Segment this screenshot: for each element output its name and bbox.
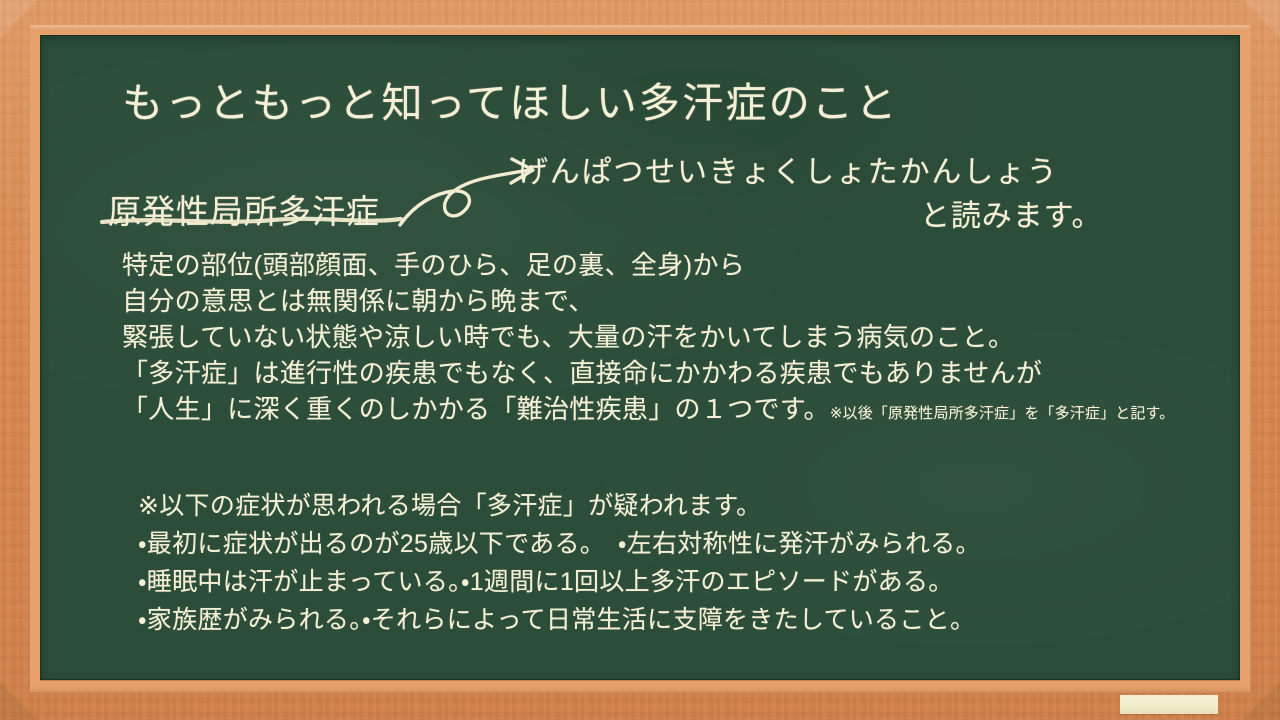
- list-item: ・家族歴がみられる。・それらによって日常生活に支障をきたしていること。: [138, 601, 1280, 639]
- chalk-underline: [98, 213, 408, 229]
- body-line-text: 「人生」に深く重くのしかかる「難治性疾患」の１つです。: [122, 394, 830, 424]
- reading-suffix: と読みます。: [920, 191, 1102, 235]
- symptom-list-heading: ※以下の症状が思われる場合「多汗症」が疑われます。: [138, 487, 1280, 525]
- list-item: ・睡眠中は汗が止まっている。・1週間に1回以上多汗のエピソードがある。: [138, 563, 1280, 601]
- chalk-stick: [1120, 695, 1218, 714]
- footnote-text: ※以後「原発性局所多汗症」を「多汗症」と記す。: [830, 405, 1175, 422]
- slide-title: もっともっと知ってほしい多汗症のこと: [122, 79, 899, 127]
- body-line-with-note: 「人生」に深く重くのしかかる「難治性疾患」の１つです。※以後「原発性局所多汗症」…: [122, 391, 1280, 432]
- chalkboard-surface: もっともっと知ってほしい多汗症のこと 原発性局所多汗症 げんぱつせいきょくしょた…: [40, 35, 1240, 680]
- symptom-list: ※以下の症状が思われる場合「多汗症」が疑われます。 ・最初に症状が出るのが25歳…: [138, 487, 1280, 639]
- body-line: 「多汗症」は進行性の疾患でもなく、直接命にかかわる疾患でもありませんが: [122, 355, 1280, 391]
- list-item: ・最初に症状が出るのが25歳以下である。 ・左右対称性に発汗がみられる。: [138, 525, 1280, 563]
- body-line: 自分の意思とは無関係に朝から晩まで、: [122, 283, 1280, 319]
- chalkboard-slide: もっともっと知ってほしい多汗症のこと 原発性局所多汗症 げんぱつせいきょくしょた…: [0, 0, 1280, 720]
- body-line: 緊張していない状態や涼しい時でも、大量の汗をかいてしまう病気のこと。: [122, 319, 1280, 355]
- body-paragraph: 特定の部位(頭部顔面、手のひら、足の裏、全身)から 自分の意思とは無関係に朝から…: [122, 247, 1280, 432]
- furigana-reading: げんぱつせいきょくしょたかんしょう: [518, 147, 1059, 191]
- body-line: 特定の部位(頭部顔面、手のひら、足の裏、全身)から: [122, 247, 1280, 283]
